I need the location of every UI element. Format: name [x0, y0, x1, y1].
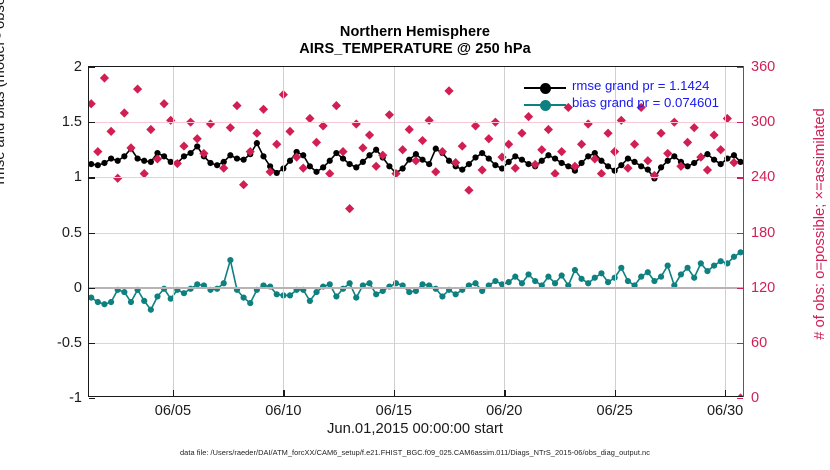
plot-canvas	[89, 67, 743, 396]
data-point-bias	[532, 278, 538, 284]
data-point-obs	[232, 101, 241, 110]
data-point-rmse	[373, 147, 379, 153]
data-point-rmse	[333, 150, 339, 156]
data-point-obs	[159, 99, 168, 108]
y-tick-label-left: 2	[74, 59, 82, 75]
data-point-bias	[313, 289, 319, 295]
data-point-rmse	[585, 153, 591, 159]
data-point-rmse	[115, 158, 121, 164]
data-point-obs	[524, 112, 533, 121]
data-point-bias	[287, 292, 293, 298]
data-point-obs	[352, 119, 361, 128]
data-point-obs	[418, 136, 427, 145]
data-point-rmse	[101, 160, 107, 166]
data-point-bias	[148, 307, 154, 313]
data-point-bias	[439, 293, 445, 299]
data-point-rmse	[141, 158, 147, 164]
chart-title-block: Northern Hemisphere AIRS_TEMPERATURE @ 2…	[0, 24, 830, 58]
y-tick-mark-right	[737, 398, 743, 399]
y-tick-label-right: 180	[751, 225, 775, 241]
data-point-bias	[578, 276, 584, 282]
data-point-obs	[663, 149, 672, 158]
data-point-obs	[643, 156, 652, 165]
data-point-bias	[154, 293, 160, 299]
data-point-obs	[372, 162, 381, 171]
data-point-bias	[307, 298, 313, 304]
data-point-obs	[458, 141, 467, 150]
data-point-obs	[736, 393, 743, 396]
data-point-rmse	[419, 157, 425, 163]
x-tick-mark	[283, 390, 284, 396]
y-tick-label-right: 60	[751, 335, 767, 351]
y-tick-mark-left	[89, 122, 95, 123]
data-point-obs	[285, 127, 294, 136]
data-point-rmse	[598, 158, 604, 164]
data-point-bias	[247, 300, 253, 306]
data-point-obs	[126, 143, 135, 152]
data-point-obs	[584, 119, 593, 128]
horizontal-gridline	[89, 343, 743, 344]
data-point-bias	[492, 278, 498, 284]
y-tick-mark-right	[737, 177, 743, 178]
data-point-rmse	[645, 167, 651, 173]
data-point-rmse	[426, 161, 432, 167]
data-point-obs	[444, 86, 453, 95]
y-tick-label-right: 240	[751, 169, 775, 185]
data-point-rmse	[181, 153, 187, 159]
x-tick-mark	[725, 390, 726, 396]
page-title: Northern Hemisphere	[0, 24, 830, 41]
horizontal-gridline	[89, 233, 743, 234]
data-point-bias	[704, 268, 710, 274]
data-point-rmse	[274, 170, 280, 176]
legend-marker-rmse	[540, 83, 551, 94]
series-svg	[89, 67, 743, 396]
data-point-bias	[506, 279, 512, 285]
data-point-obs	[504, 140, 513, 149]
data-point-obs	[464, 186, 473, 195]
data-point-rmse	[466, 161, 472, 167]
data-point-obs	[120, 108, 129, 117]
data-point-obs	[345, 204, 354, 213]
y-tick-label-left: 0	[74, 280, 82, 296]
data-point-bias	[227, 257, 233, 263]
data-point-rmse	[366, 152, 372, 158]
data-point-bias	[108, 299, 114, 305]
data-point-rmse	[194, 143, 200, 149]
data-point-rmse	[307, 163, 313, 169]
data-point-rmse	[360, 159, 366, 165]
data-point-obs	[531, 160, 540, 169]
vertical-gridline	[283, 67, 284, 396]
y-tick-mark-right	[737, 67, 743, 68]
data-point-bias	[545, 274, 551, 280]
right-axis-spine	[743, 66, 744, 398]
data-point-obs	[100, 73, 109, 82]
horizontal-gridline	[89, 122, 743, 123]
horizontal-gridline	[89, 177, 743, 178]
data-point-obs	[603, 129, 612, 138]
data-point-obs	[239, 180, 248, 189]
data-point-rmse	[691, 160, 697, 166]
data-point-obs	[332, 101, 341, 110]
data-point-rmse	[313, 169, 319, 175]
data-point-bias	[691, 275, 697, 281]
data-point-rmse	[718, 161, 724, 167]
data-point-obs	[206, 119, 215, 128]
data-point-obs	[537, 145, 546, 154]
data-point-rmse	[260, 153, 266, 159]
data-point-bias	[221, 280, 227, 286]
data-point-rmse	[214, 162, 220, 168]
legend-marker-bias	[540, 100, 551, 111]
data-point-bias	[101, 301, 107, 307]
data-point-obs	[106, 127, 115, 136]
plot-area: -1-0.500.511.5206012018024030036006/0506…	[88, 66, 744, 397]
vertical-gridline	[725, 67, 726, 396]
data-point-rmse	[552, 155, 558, 161]
data-point-bias	[525, 271, 531, 277]
data-point-rmse	[234, 155, 240, 161]
y-tick-mark-left	[89, 398, 95, 399]
data-point-rmse	[386, 163, 392, 169]
zero-reference-line	[89, 287, 743, 290]
data-point-obs	[133, 84, 142, 93]
data-point-rmse	[400, 165, 406, 171]
data-point-rmse	[492, 162, 498, 168]
data-point-rmse	[479, 150, 485, 156]
y-tick-label-right: 300	[751, 114, 775, 130]
data-point-obs	[478, 165, 487, 174]
x-tick-label: 06/25	[597, 403, 633, 419]
data-point-obs	[259, 105, 268, 114]
data-point-bias	[453, 291, 459, 297]
data-point-rmse	[665, 158, 671, 164]
data-point-obs	[93, 147, 102, 156]
y-tick-mark-left	[89, 288, 95, 289]
vertical-gridline	[504, 67, 505, 396]
data-point-bias	[559, 272, 565, 278]
data-point-bias	[128, 299, 134, 305]
data-point-rmse	[459, 167, 465, 173]
data-point-obs	[623, 164, 632, 173]
data-point-rmse	[605, 163, 611, 169]
data-point-rmse	[327, 158, 333, 164]
data-point-bias	[585, 280, 591, 286]
x-tick-mark	[394, 390, 395, 396]
y-tick-mark-left	[89, 177, 95, 178]
data-point-rmse	[578, 160, 584, 166]
data-point-rmse	[525, 161, 531, 167]
data-point-bias	[353, 295, 359, 301]
data-point-obs	[378, 151, 387, 160]
vertical-gridline	[173, 67, 174, 396]
y-tick-label-left: -0.5	[57, 335, 82, 351]
data-point-obs	[451, 158, 460, 167]
legend-label-rmse: rmse grand pr = 1.1424	[572, 78, 709, 93]
data-point-bias	[366, 280, 372, 286]
x-axis-label: Jun.01,2015 00:00:00 start	[0, 421, 830, 437]
data-point-obs	[683, 138, 692, 147]
data-point-rmse	[287, 158, 293, 164]
data-point-rmse	[519, 157, 525, 163]
data-point-rmse	[134, 155, 140, 161]
vertical-gridline	[394, 67, 395, 396]
x-tick-label: 06/30	[707, 403, 743, 419]
data-point-bias	[711, 263, 717, 269]
data-point-bias	[274, 291, 280, 297]
data-point-rmse	[89, 161, 94, 167]
data-point-obs	[398, 145, 407, 154]
data-point-bias	[373, 291, 379, 297]
data-point-obs	[312, 138, 321, 147]
data-point-rmse	[161, 153, 167, 159]
data-point-obs	[89, 99, 96, 108]
data-point-rmse	[545, 152, 551, 158]
data-point-bias	[618, 265, 624, 271]
data-point-obs	[252, 129, 261, 138]
data-point-bias	[181, 290, 187, 296]
x-tick-label: 06/15	[376, 403, 412, 419]
data-point-obs	[272, 140, 281, 149]
data-point-obs	[511, 164, 520, 173]
data-point-obs	[497, 153, 506, 162]
data-point-rmse	[207, 160, 213, 166]
data-point-obs	[630, 140, 639, 149]
data-point-rmse	[704, 151, 710, 157]
legend-item-bias[interactable]: bias grand pr = 0.074601	[524, 96, 739, 113]
y-tick-mark-right	[737, 122, 743, 123]
data-point-obs	[385, 110, 394, 119]
data-point-bias	[347, 280, 353, 286]
data-point-obs	[656, 129, 665, 138]
data-point-rmse	[148, 159, 154, 165]
data-point-rmse	[506, 159, 512, 165]
data-point-obs	[219, 164, 228, 173]
data-point-rmse	[631, 159, 637, 165]
data-point-bias	[512, 274, 518, 280]
data-file-footer: data file: /Users/raeder/DAI/ATM_forcXX/…	[0, 448, 830, 457]
x-tick-mark	[173, 390, 174, 396]
data-point-rmse	[472, 154, 478, 160]
y-tick-label-right: 120	[751, 280, 775, 296]
data-point-bias	[605, 279, 611, 285]
data-point-obs	[365, 130, 374, 139]
data-point-obs	[146, 125, 155, 134]
x-tick-label: 06/10	[265, 403, 301, 419]
y-tick-label-left: 1.5	[62, 114, 82, 130]
data-point-bias	[625, 278, 631, 284]
data-point-rmse	[658, 164, 664, 170]
data-point-obs	[544, 125, 553, 134]
data-point-rmse	[254, 140, 260, 146]
data-point-bias	[718, 258, 724, 264]
data-point-rmse	[121, 153, 127, 159]
data-point-obs	[226, 123, 235, 132]
data-point-rmse	[340, 155, 346, 161]
data-point-bias	[121, 289, 127, 295]
data-point-rmse	[671, 153, 677, 159]
data-point-obs	[425, 116, 434, 125]
data-point-obs	[716, 145, 725, 154]
data-point-rmse	[446, 158, 452, 164]
data-point-rmse	[227, 152, 233, 158]
y-axis-label-right: # of obs: o=possible; ×=assimilated	[812, 54, 828, 394]
data-point-obs	[405, 125, 414, 134]
data-point-obs	[557, 147, 566, 156]
data-point-rmse	[433, 146, 439, 152]
data-point-rmse	[347, 161, 353, 167]
y-tick-label-right: 0	[751, 390, 759, 406]
data-point-bias	[645, 269, 651, 275]
y-tick-label-left: 1	[74, 169, 82, 185]
data-point-bias	[572, 267, 578, 273]
data-point-rmse	[638, 163, 644, 169]
data-point-obs	[517, 129, 526, 138]
data-point-obs	[338, 147, 347, 156]
y-tick-label-left: -1	[69, 390, 82, 406]
data-point-bias	[651, 278, 657, 284]
data-point-rmse	[618, 162, 624, 168]
legend-label-bias: bias grand pr = 0.074601	[572, 95, 719, 110]
data-point-rmse	[108, 155, 114, 161]
vertical-gridline	[615, 67, 616, 396]
data-point-rmse	[188, 150, 194, 156]
series-obs	[89, 67, 743, 396]
data-point-obs	[358, 143, 367, 152]
chart-legend: rmse grand pr = 1.1424 bias grand pr = 0…	[524, 79, 739, 113]
data-point-obs	[484, 134, 493, 143]
data-point-bias	[95, 299, 101, 305]
data-point-bias	[141, 298, 147, 304]
y-tick-mark-left	[89, 233, 95, 234]
data-point-rmse	[241, 157, 247, 163]
data-point-rmse	[731, 152, 737, 158]
x-tick-mark	[615, 390, 616, 396]
data-point-rmse	[406, 157, 412, 163]
data-point-rmse	[625, 155, 631, 161]
data-point-bias	[241, 295, 247, 301]
x-tick-label: 06/20	[486, 403, 522, 419]
data-point-bias	[406, 289, 412, 295]
series-line-bias	[91, 252, 740, 309]
data-point-rmse	[512, 153, 518, 159]
series-bias	[89, 249, 743, 313]
data-point-obs	[179, 141, 188, 150]
data-point-obs	[577, 140, 586, 149]
data-point-rmse	[300, 152, 306, 158]
data-point-bias	[638, 274, 644, 280]
data-point-obs	[709, 130, 718, 139]
data-point-bias	[665, 263, 671, 269]
data-point-rmse	[559, 160, 565, 166]
data-point-obs	[617, 116, 626, 125]
y-tick-mark-left	[89, 343, 95, 344]
y-axis-label-left: rmse and bias (model - observation)	[0, 0, 8, 231]
data-point-obs	[166, 116, 175, 125]
data-point-bias	[552, 280, 558, 286]
data-point-obs	[703, 165, 712, 174]
data-point-bias	[678, 271, 684, 277]
data-point-bias	[658, 274, 664, 280]
data-point-bias	[698, 260, 704, 266]
chart-subtitle: AIRS_TEMPERATURE @ 250 hPa	[0, 41, 830, 58]
data-point-obs	[690, 123, 699, 132]
data-point-obs	[153, 154, 162, 163]
data-point-rmse	[539, 158, 545, 164]
legend-item-rmse[interactable]: rmse grand pr = 1.1424	[524, 79, 739, 96]
data-point-obs	[438, 147, 447, 156]
data-point-bias	[472, 280, 478, 286]
data-point-rmse	[320, 164, 326, 170]
data-point-rmse	[95, 162, 101, 168]
data-point-bias	[519, 280, 525, 286]
y-tick-mark-right	[737, 233, 743, 234]
data-point-obs	[299, 164, 308, 173]
data-point-bias	[592, 275, 598, 281]
y-tick-label-right: 360	[751, 59, 775, 75]
x-tick-label: 06/05	[155, 403, 191, 419]
y-tick-mark-right	[737, 288, 743, 289]
y-tick-mark-left	[89, 67, 95, 68]
data-point-rmse	[353, 164, 359, 170]
x-tick-mark	[504, 390, 505, 396]
data-point-rmse	[711, 157, 717, 163]
data-point-rmse	[486, 155, 492, 161]
data-point-bias	[333, 293, 339, 299]
y-tick-label-left: 0.5	[62, 225, 82, 241]
data-point-bias	[731, 254, 737, 260]
data-point-obs	[193, 134, 202, 143]
y-tick-mark-right	[737, 343, 743, 344]
data-point-bias	[598, 270, 604, 276]
data-point-bias	[684, 265, 690, 271]
data-point-obs	[431, 167, 440, 176]
